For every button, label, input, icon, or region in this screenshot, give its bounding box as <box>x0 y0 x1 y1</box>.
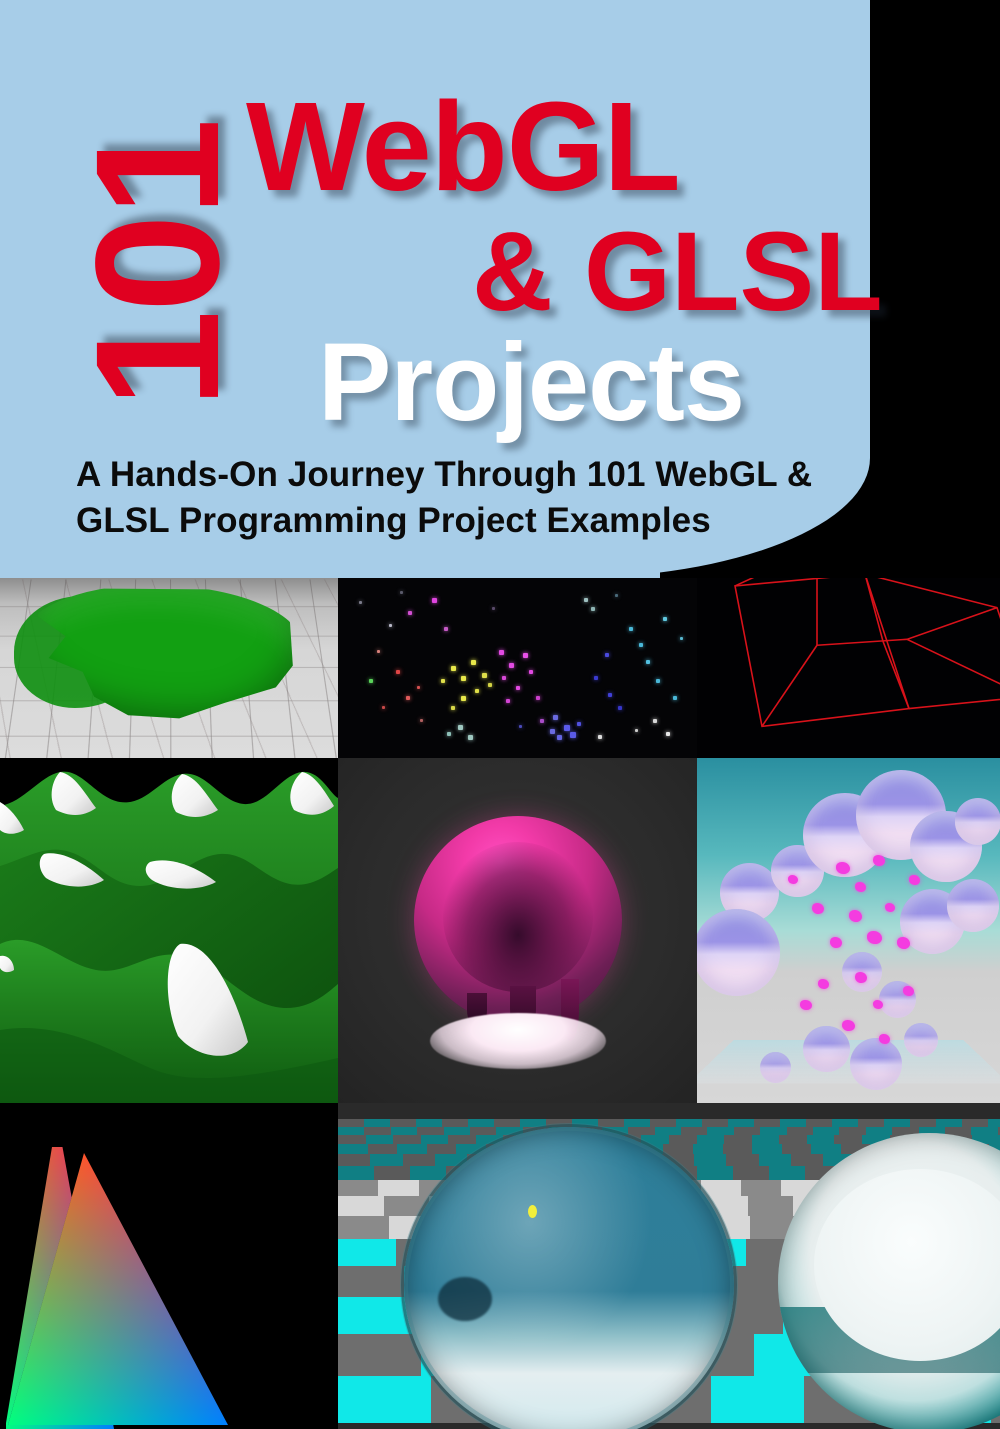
checker-cell <box>711 1376 804 1424</box>
particle <box>666 732 670 736</box>
particle <box>408 611 412 615</box>
metaball-fractal-blob <box>873 1000 883 1009</box>
checker-cell <box>403 1154 435 1166</box>
checker-cell <box>338 1239 396 1266</box>
particle <box>468 735 473 740</box>
checker-cell <box>971 1127 997 1135</box>
gallery-cell-melting-sphere <box>338 758 697 1103</box>
checker-cell <box>374 1166 410 1180</box>
particle <box>396 670 400 674</box>
checker-cell <box>448 1135 476 1144</box>
checker-cell <box>787 1127 813 1135</box>
particle <box>458 725 463 730</box>
metaball <box>760 1052 791 1083</box>
book-cover: 101 WebGL & GLSL Projects A Hands-On Jou… <box>0 0 1000 1429</box>
checker-cell <box>338 1166 374 1180</box>
metaball-fractal-blob <box>842 1020 855 1031</box>
particle <box>382 706 385 709</box>
checker-cell <box>697 1135 725 1144</box>
particle <box>519 725 522 728</box>
checker-cell <box>391 1127 417 1135</box>
checker-cell <box>390 1119 416 1127</box>
particle <box>499 650 504 655</box>
particle <box>663 617 667 621</box>
particle <box>557 735 562 740</box>
particle <box>516 686 520 690</box>
gallery-cell-rgb-gradient-triangle <box>0 1103 338 1429</box>
checker-cell <box>676 1119 702 1127</box>
subtitle-line-2: GLSL Programming Project Examples <box>76 498 906 544</box>
checker-cell <box>338 1196 384 1216</box>
particle <box>461 696 466 701</box>
metaball-fractal-blob <box>909 875 920 885</box>
checker-cell <box>697 1166 733 1180</box>
checker-cell <box>759 1154 791 1166</box>
particle <box>639 643 643 647</box>
metaball <box>803 1026 850 1073</box>
checker-cell <box>760 1127 786 1135</box>
checker-cell <box>782 1144 812 1154</box>
metaball-fractal-blob <box>788 875 798 884</box>
title-webgl: WebGL <box>246 84 680 210</box>
metaball-fractal-blob <box>879 1034 890 1044</box>
checker-cell <box>494 1119 520 1127</box>
checker-cell <box>748 1196 794 1216</box>
gallery-cell-gpu-particle-system <box>338 578 697 758</box>
particle <box>369 679 373 683</box>
checker-cell <box>397 1144 427 1154</box>
checker-cell <box>444 1127 470 1135</box>
gallery-cell-red-wireframe-cube <box>697 578 1000 758</box>
particle <box>618 706 622 710</box>
checker-cell <box>726 1154 758 1166</box>
checker-cell <box>734 1127 760 1135</box>
metaball-fractal-blob <box>800 1000 812 1010</box>
particle <box>389 624 392 627</box>
checker-cell <box>832 1119 858 1127</box>
checker-cell <box>442 1119 468 1127</box>
checker-cell <box>338 1127 364 1135</box>
title-number: 101 <box>86 120 230 408</box>
particle <box>550 729 555 734</box>
particle <box>577 722 581 726</box>
particle <box>502 676 506 680</box>
checker-cell <box>779 1135 807 1144</box>
checker-cell <box>752 1144 782 1154</box>
particle <box>570 732 576 738</box>
melting-sphere-core-shadow <box>443 842 593 992</box>
checker-cell <box>752 1135 780 1144</box>
particle <box>673 696 677 700</box>
checker-cell <box>780 1119 806 1127</box>
checker-cell <box>866 1127 892 1135</box>
particle <box>444 627 448 631</box>
particle <box>564 725 570 731</box>
particle <box>451 706 455 710</box>
particle <box>680 637 683 640</box>
checker-cell <box>858 1119 884 1127</box>
checker-row <box>338 1127 1000 1135</box>
checker-cell <box>806 1119 832 1127</box>
checker-cell <box>669 1135 697 1144</box>
particle <box>492 607 495 610</box>
metaball <box>904 1023 938 1057</box>
checker-cell <box>650 1119 676 1127</box>
subtitle: A Hands-On Journey Through 101 WebGL & G… <box>76 452 906 544</box>
glass-sphere-left-rim <box>400 1123 738 1429</box>
checker-cell <box>338 1135 366 1144</box>
metaball-fractal-blob <box>867 931 882 944</box>
particle <box>475 689 479 693</box>
checker-cell <box>338 1180 378 1196</box>
particle <box>594 676 598 680</box>
checker-cell <box>988 1119 1000 1127</box>
particle <box>540 719 544 723</box>
checker-cell <box>393 1135 421 1144</box>
checker-cell <box>338 1144 368 1154</box>
checker-cell <box>416 1119 442 1127</box>
checker-cell <box>681 1127 707 1135</box>
particle <box>471 660 476 665</box>
metaball-fractal-blob <box>873 855 885 866</box>
particle <box>653 719 657 723</box>
checker-cell <box>378 1180 418 1196</box>
checker-cell <box>370 1154 402 1166</box>
particle <box>377 650 380 653</box>
checker-cell <box>834 1135 862 1144</box>
particle <box>417 686 420 689</box>
particle <box>482 673 487 678</box>
particle <box>591 607 595 611</box>
checker-cell <box>338 1334 421 1376</box>
rgb-triangle-svg <box>0 1103 338 1429</box>
gallery-cell-marching-cubes-isosurface <box>0 578 338 758</box>
checker-cell <box>791 1154 823 1166</box>
checker-cell <box>338 1376 431 1424</box>
checker-cell <box>655 1127 681 1135</box>
title-glsl: & GLSL <box>472 216 883 328</box>
checker-cell <box>364 1127 390 1135</box>
particle <box>598 735 602 739</box>
checker-cell <box>338 1216 389 1239</box>
checker-row <box>338 1119 1000 1127</box>
metaball-fractal-blob <box>849 910 862 922</box>
particle <box>441 679 445 683</box>
checker-cell <box>702 1119 728 1127</box>
gallery-cell-raymarched-metaballs <box>697 758 1000 1103</box>
particle <box>420 719 423 722</box>
particle <box>553 715 558 720</box>
particle <box>506 699 510 703</box>
checker-cell <box>693 1144 723 1154</box>
checker-cell <box>811 1144 841 1154</box>
checker-cell <box>839 1127 865 1135</box>
checker-cell <box>769 1166 805 1180</box>
metaball-fractal-blob <box>830 937 842 948</box>
checker-cell <box>417 1127 443 1135</box>
wireframe-cube-svg <box>697 578 1000 758</box>
checker-cell <box>624 1119 650 1127</box>
checker-cell <box>694 1154 726 1166</box>
checker-cell <box>962 1119 988 1127</box>
particle <box>447 732 451 736</box>
checker-cell <box>910 1119 936 1127</box>
metaball <box>955 798 1000 845</box>
checker-cell <box>421 1135 449 1144</box>
particle <box>432 598 437 603</box>
checker-cell <box>813 1127 839 1135</box>
checker-cell <box>884 1119 910 1127</box>
particle <box>615 594 618 597</box>
particle <box>461 676 466 681</box>
checker-cell <box>724 1135 752 1144</box>
checker-cell <box>741 1180 781 1196</box>
gallery-cell-snow-capped-terrain <box>0 758 338 1103</box>
checker-cell <box>470 1127 496 1135</box>
gallery-cell-refractive-glass-spheres <box>338 1103 1000 1429</box>
particle <box>406 696 410 700</box>
checker-cell <box>728 1119 754 1127</box>
checker-cell <box>733 1166 769 1180</box>
particle <box>529 670 533 674</box>
checker-cell <box>427 1144 457 1154</box>
particle <box>635 729 638 732</box>
checker-cell <box>807 1135 835 1144</box>
metaball-fractal-blob <box>855 882 866 892</box>
metaball-fractal-blob <box>812 903 824 914</box>
particle <box>629 627 633 631</box>
metaball-fractal-blob <box>897 937 910 949</box>
subtitle-line-1: A Hands-On Journey Through 101 WebGL & <box>76 452 906 498</box>
metaball-fractal-blob <box>903 986 914 996</box>
terrain-svg <box>0 758 338 1103</box>
title-panel: 101 WebGL & GLSL Projects A Hands-On Jou… <box>0 0 870 578</box>
particle <box>605 653 609 657</box>
particle <box>584 598 588 602</box>
glass-scene-top-band <box>338 1103 1000 1119</box>
particle <box>451 666 456 671</box>
checker-cell <box>366 1135 394 1144</box>
melt-pool <box>430 1013 606 1069</box>
checker-cell <box>338 1119 364 1127</box>
checker-cell <box>707 1127 733 1135</box>
particle <box>509 663 514 668</box>
particle <box>608 693 612 697</box>
particle <box>359 601 362 604</box>
particle <box>488 683 492 687</box>
checker-cell <box>364 1119 390 1127</box>
metaball <box>697 909 780 996</box>
metaball <box>947 879 1000 932</box>
particle <box>656 679 660 683</box>
metaball-fractal-blob <box>885 903 895 912</box>
particle <box>523 653 528 658</box>
checker-cell <box>754 1119 780 1127</box>
checker-cell <box>723 1144 753 1154</box>
title-projects: Projects <box>318 328 744 438</box>
checker-cell <box>338 1154 370 1166</box>
checker-cell <box>338 1266 404 1297</box>
metaball-fractal-blob <box>818 979 829 989</box>
checker-cell <box>368 1144 398 1154</box>
particle <box>400 591 403 594</box>
metaball-fractal-blob <box>855 972 867 983</box>
checker-cell <box>468 1119 494 1127</box>
checker-cell <box>936 1119 962 1127</box>
particle <box>536 696 540 700</box>
particle <box>646 660 650 664</box>
